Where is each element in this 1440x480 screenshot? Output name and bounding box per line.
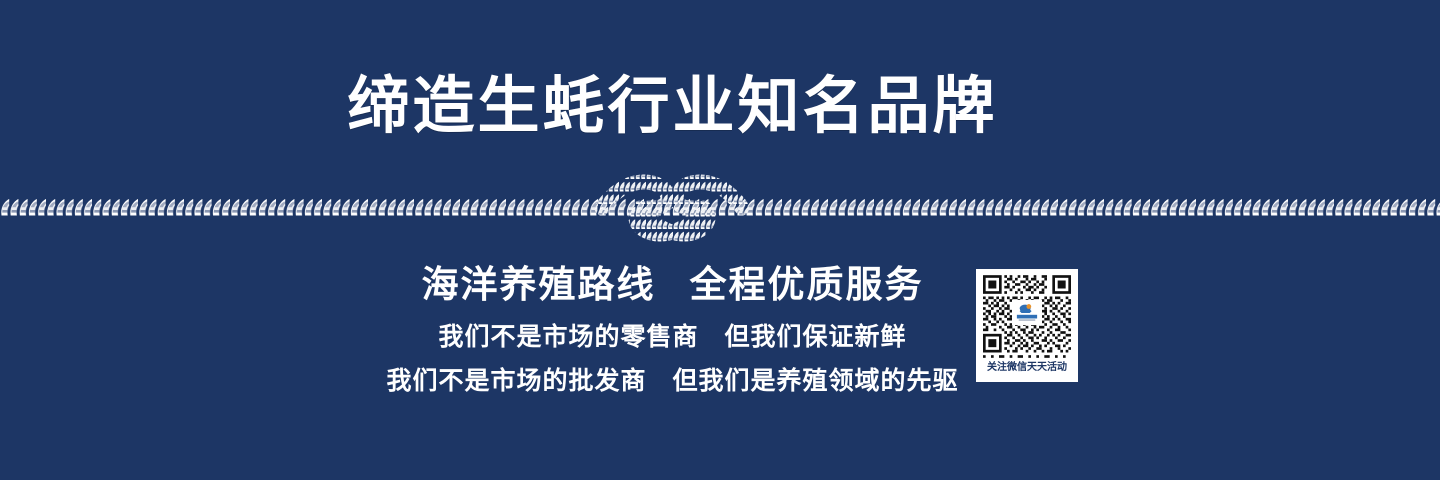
subheadline-right: 全程优质服务 bbox=[690, 263, 924, 306]
promo-banner: 缔造生蚝行业知名品牌 bbox=[0, 0, 1440, 480]
page-title: 缔造生蚝行业知名品牌 bbox=[0, 70, 1345, 142]
tagline-left: 我们不是市场的零售商 bbox=[438, 322, 698, 351]
subheadline: 海洋养殖路线全程优质服务 bbox=[0, 262, 1345, 308]
rope-divider bbox=[0, 168, 1440, 248]
tagline-row: 我们不是市场的零售商但我们保证新鲜 bbox=[0, 321, 1345, 353]
tagline-row: 我们不是市场的批发商但我们是养殖领域的先驱 bbox=[0, 365, 1345, 397]
qr-caption: 关注微信天天活动 bbox=[976, 361, 1078, 375]
tagline-right: 但我们是养殖领域的先驱 bbox=[673, 366, 959, 395]
rope-knot-icon bbox=[592, 168, 752, 248]
tagline-right: 但我们保证新鲜 bbox=[725, 322, 907, 351]
subheadline-left: 海洋养殖路线 bbox=[422, 263, 656, 306]
qr-code-card[interactable]: 关注微信天天活动 bbox=[976, 269, 1078, 382]
tagline-left: 我们不是市场的批发商 bbox=[386, 366, 646, 395]
brand-mascot-logo-icon bbox=[1012, 300, 1042, 325]
